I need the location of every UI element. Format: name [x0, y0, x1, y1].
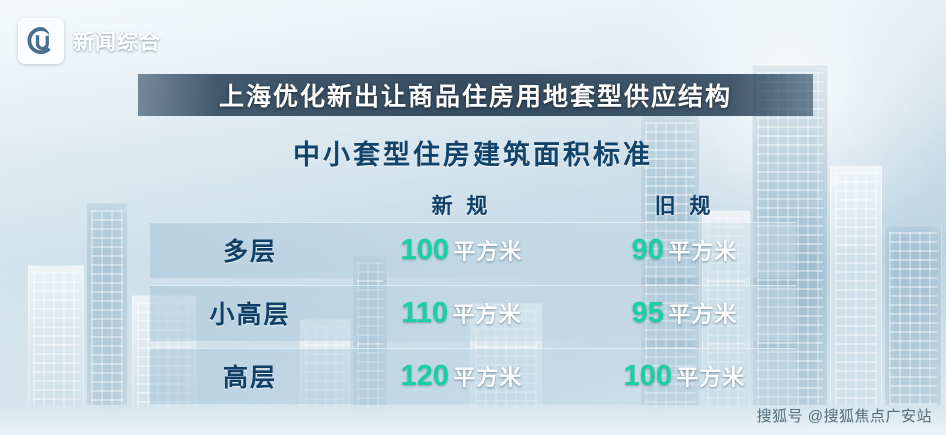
row-new-cell: 100 平方米 [350, 234, 573, 267]
headline-text: 上海优化新出让商品住房用地套型供应结构 [219, 77, 732, 113]
row-old-value: 90 [632, 234, 664, 266]
row-new-unit: 平方米 [453, 239, 522, 264]
table-row: 高层 120 平方米 100 平方米 [150, 348, 796, 404]
row-new-value: 110 [401, 297, 448, 329]
watermark: 搜狐号 @搜狐焦点广安站 [757, 405, 932, 426]
row-old-unit: 平方米 [676, 365, 745, 390]
sh-news-logo-icon [18, 18, 64, 64]
subtitle: 中小套型住房建筑面积标准 [0, 133, 946, 172]
table-row: 小高层 110 平方米 95 平方米 [150, 285, 796, 341]
row-new-unit: 平方米 [453, 302, 522, 327]
row-new-unit: 平方米 [453, 365, 522, 390]
standards-table: 新 规 旧 规 多层 100 平方米 90 平方米 小高层 110 平方米 [150, 188, 796, 411]
broadcast-graphic: 新闻综合 上海优化新出让商品住房用地套型供应结构 中小套型住房建筑面积标准 新 … [0, 0, 946, 435]
row-old-unit: 平方米 [668, 302, 737, 327]
channel-logo: 新闻综合 [18, 18, 161, 64]
row-type: 高层 [150, 358, 350, 394]
row-old-unit: 平方米 [668, 239, 737, 264]
subtitle-text: 中小套型住房建筑面积标准 [293, 140, 653, 170]
channel-name: 新闻综合 [73, 26, 161, 56]
row-old-cell: 95 平方米 [573, 297, 796, 330]
table-header-row: 新 规 旧 规 [150, 188, 796, 222]
headline-bar: 上海优化新出让商品住房用地套型供应结构 [138, 74, 813, 116]
row-old-value: 95 [632, 297, 664, 329]
row-new-value: 120 [401, 360, 449, 392]
row-type: 多层 [150, 232, 350, 268]
row-type: 小高层 [150, 295, 350, 331]
row-new-cell: 120 平方米 [350, 360, 573, 393]
watermark-text: 搜狐号 @搜狐焦点广安站 [757, 405, 932, 426]
row-new-value: 100 [401, 234, 449, 266]
table-body: 多层 100 平方米 90 平方米 小高层 110 平方米 95 平 [150, 222, 796, 404]
row-old-cell: 100 平方米 [573, 360, 796, 393]
row-new-cell: 110 平方米 [350, 297, 573, 330]
row-old-value: 100 [624, 360, 672, 392]
table-row: 多层 100 平方米 90 平方米 [150, 222, 796, 278]
header-new-rule: 新 规 [432, 195, 492, 218]
header-old-rule: 旧 规 [655, 195, 715, 218]
row-old-cell: 90 平方米 [573, 234, 796, 267]
